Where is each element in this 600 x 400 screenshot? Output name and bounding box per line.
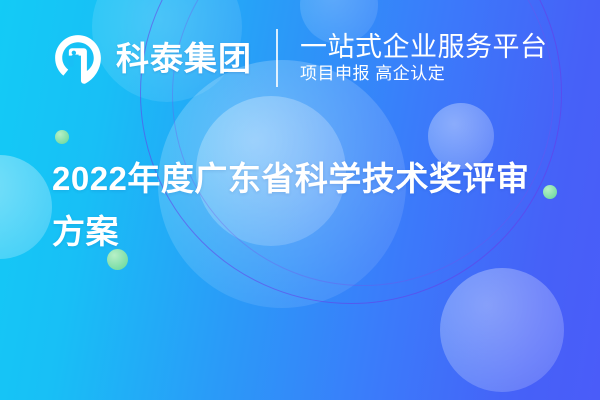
tagline-block: 一站式企业服务平台 项目申报 高企认定 (300, 33, 548, 84)
ketai-circular-logo-icon (52, 32, 104, 84)
title-block: 2022年度广东省科学技术奖评审方案 (52, 152, 562, 259)
decorative-circle-left-edge (0, 155, 52, 259)
promo-banner: 科泰集团 一站式企业服务平台 项目申报 高企认定 2022年度广东省科学技术奖评… (0, 0, 600, 400)
banner-header: 科泰集团 一站式企业服务平台 项目申报 高企认定 (0, 18, 600, 98)
page-title: 2022年度广东省科学技术奖评审方案 (52, 152, 562, 259)
tagline-primary: 一站式企业服务平台 (300, 33, 548, 62)
header-divider (276, 29, 278, 87)
brand-lockup: 科泰集团 (52, 32, 252, 84)
tagline-secondary: 项目申报 高企认定 (300, 65, 548, 84)
decorative-circle-bottom-right (440, 268, 564, 392)
decorative-dot-green-left (55, 130, 69, 144)
brand-name: 科泰集团 (116, 42, 252, 75)
